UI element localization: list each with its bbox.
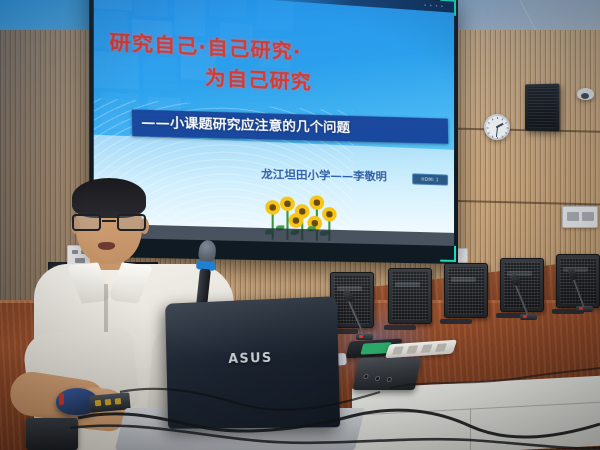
wall-outlet-panel-right[interactable] (562, 206, 598, 228)
dome-camera (577, 88, 594, 100)
cable-bundle (0, 300, 600, 450)
wall-clock (484, 114, 510, 140)
slide-title-line1: 研究自己·自己研究· (109, 31, 301, 64)
clock-minute-hand (495, 127, 497, 137)
eyeglasses-icon (72, 214, 146, 231)
wall-speaker (525, 84, 560, 132)
bezel-corner-topright-icon (440, 0, 456, 16)
presenter-brow-right (118, 209, 142, 212)
presenter-hair (72, 178, 146, 218)
conference-room-scene: • • • • 研究自己·自己研究· 为自己研究 ——小课题研究应注意的几个问题… (0, 0, 600, 450)
bezel-corner-bottomright-icon (440, 246, 456, 262)
presenter-mouth (98, 242, 115, 250)
presenter-brow-left (76, 209, 100, 212)
mic-capsule-icon (198, 239, 217, 263)
display-input-badge: HDMI 1 (412, 173, 448, 185)
display-input-label: HDMI 1 (413, 174, 447, 185)
slide-author: 龙江坦田小学——李敬明 (261, 166, 387, 185)
